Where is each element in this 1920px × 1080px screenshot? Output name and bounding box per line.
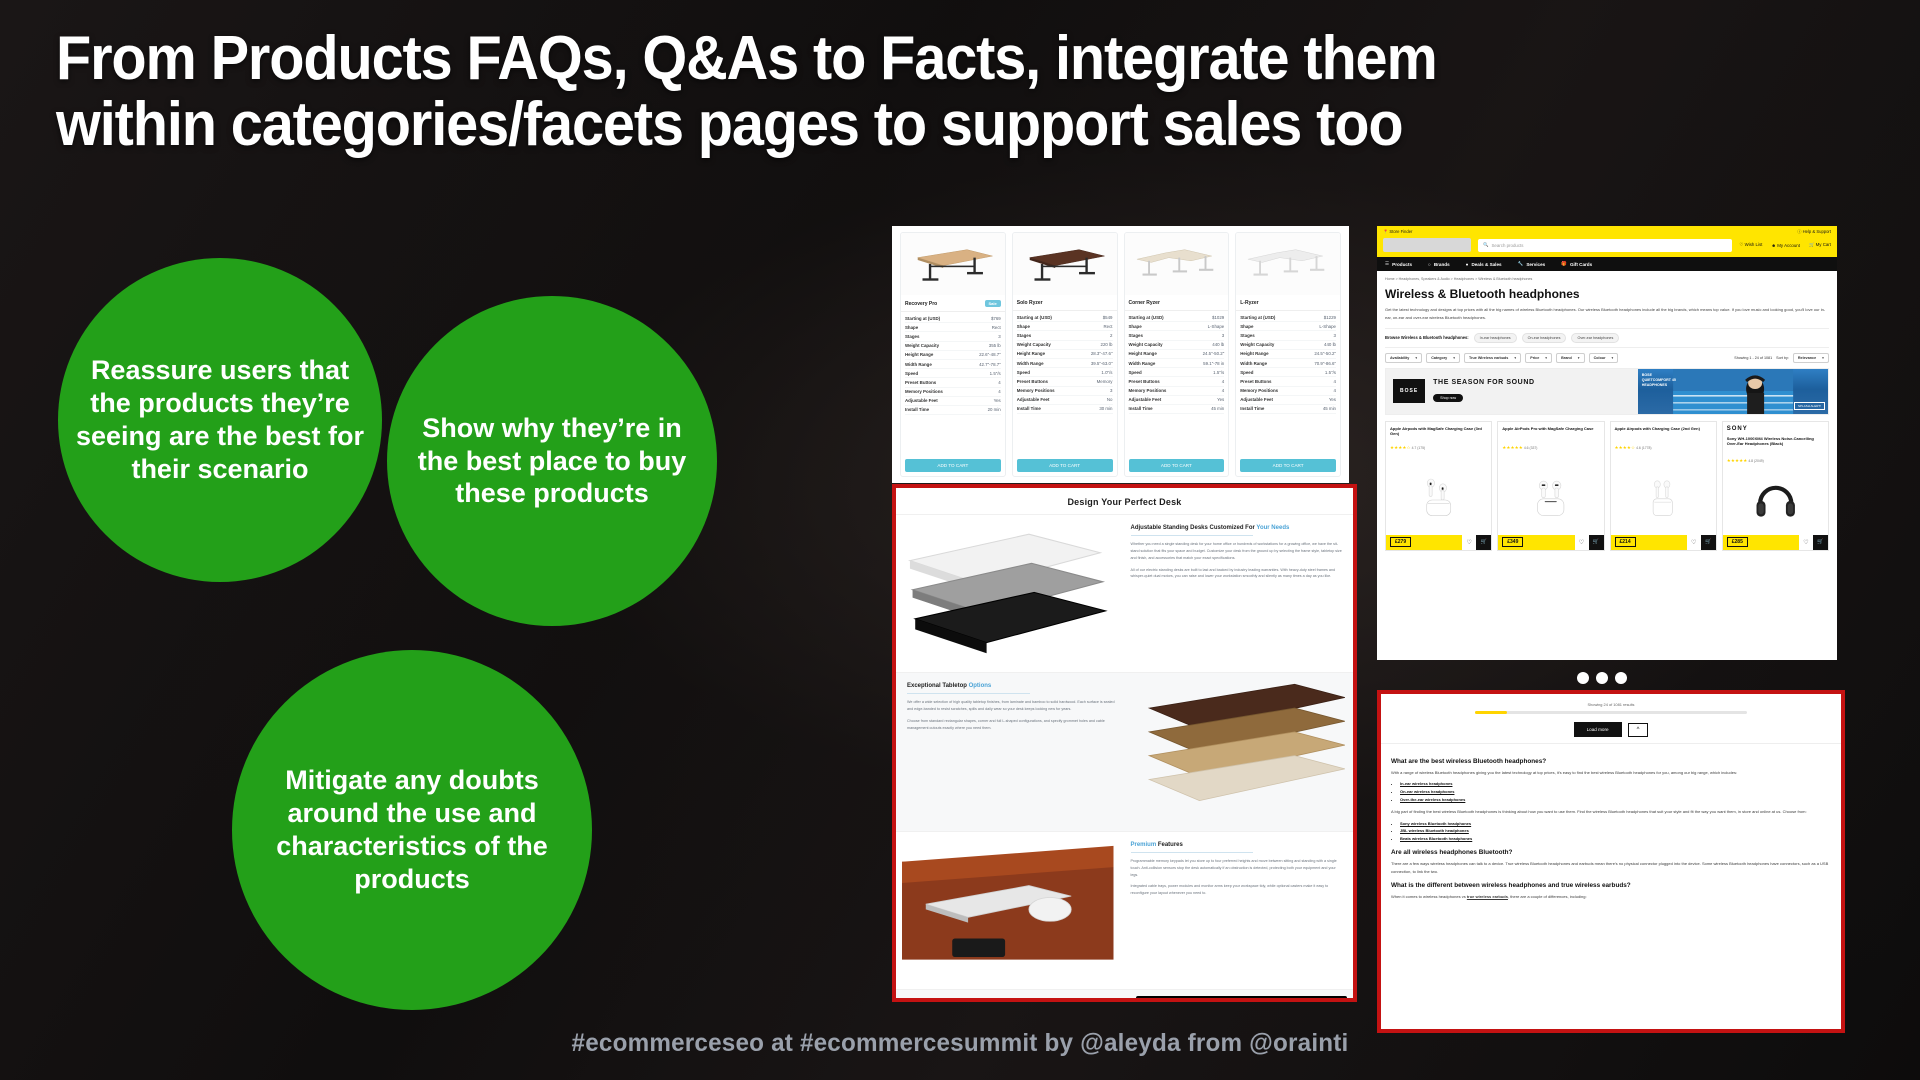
- airpods-3rd-gen-icon: [1402, 470, 1475, 518]
- spec-value: Memory: [1097, 379, 1113, 384]
- product-image: [1386, 454, 1491, 535]
- screenshot-category-page: 📍 Store Finder ⓘ Help & Support 🔍 Search…: [1377, 226, 1837, 660]
- spec-row: Weight Capacity440 lb: [1129, 341, 1225, 350]
- spec-label: Shape: [1129, 324, 1142, 329]
- spec-value: Rect: [1103, 324, 1112, 329]
- product-name-row: Corner Ryzer: [1125, 295, 1229, 311]
- faq-item: Are all wireless headphones Bluetooth? T…: [1391, 849, 1831, 875]
- product-rating: ★★★★★4.6 (337): [1498, 445, 1603, 454]
- product-rating: ★★★★☆4.7 (175): [1386, 445, 1491, 454]
- promo-text: THE SEASON FOR SOUND Shop now: [1433, 379, 1534, 404]
- spec-label: Width Range: [905, 362, 932, 367]
- browse-chip-in-ear[interactable]: In-ear headphones: [1474, 333, 1517, 343]
- sale-badge: [1328, 302, 1336, 304]
- add-to-cart-button[interactable]: ADD TO CART: [1017, 459, 1113, 472]
- price-value: £285: [1727, 537, 1748, 547]
- add-to-cart-button[interactable]: ADD TO CART: [905, 459, 1001, 472]
- add-to-cart-icon[interactable]: 🛒: [1589, 535, 1604, 550]
- spec-row: Preset ButtonsMemory: [1017, 377, 1113, 386]
- spec-label: Adjustable Feet: [905, 398, 938, 403]
- spec-row: Memory Positions4: [1240, 387, 1336, 396]
- spec-row: Height Range28.3"-47.6": [1017, 350, 1113, 359]
- product-name: Apple Airpods with MagSafe Charging Case…: [1386, 422, 1491, 445]
- spec-label: Weight Capacity: [1017, 342, 1051, 347]
- filter-colour[interactable]: Colour▾: [1589, 353, 1619, 363]
- spec-label: Speed: [1240, 370, 1253, 375]
- utility-bar: 📍 Store Finder ⓘ Help & Support: [1377, 226, 1837, 236]
- promo-banner-left: BOSE THE SEASON FOR SOUND Shop now: [1386, 369, 1638, 414]
- product-name: Corner Ryzer: [1129, 300, 1160, 306]
- heading-link: Premium: [1131, 842, 1158, 848]
- spec-value: 3: [998, 334, 1000, 339]
- product-grid: Apple Airpods with MagSafe Charging Case…: [1385, 421, 1829, 551]
- desk-section-text: Premium Features Programmable memory key…: [1120, 832, 1354, 989]
- spec-value: 20 min: [988, 407, 1001, 412]
- spec-label: Stages: [905, 334, 919, 339]
- spec-row: Stages2: [1017, 331, 1113, 340]
- product-price-row: £279 ♡ 🛒: [1386, 535, 1491, 550]
- scroll-top-button[interactable]: ^: [1628, 723, 1649, 737]
- spec-row: Weight Capacity440 lb: [1240, 341, 1336, 350]
- spec-value: 59.1"-78 in: [1203, 361, 1224, 366]
- filter-true-wireless[interactable]: True Wireless earbuds▾: [1464, 353, 1521, 363]
- spec-row: Install Time30 min: [1017, 405, 1113, 414]
- spec-row: Weight Capacity220 lb: [1017, 341, 1113, 350]
- faq-question: What is the different between wireless h…: [1391, 882, 1831, 889]
- video-player[interactable]: ▶ 0:08 / 1:24 🔊 ⚙ ⛶: [1136, 996, 1348, 1002]
- spec-label: Shape: [905, 325, 918, 330]
- filter-bar: Availability▾ Category▾ True Wireless ea…: [1385, 353, 1829, 363]
- spec-label: Install Time: [1240, 406, 1264, 411]
- product-rating: ★★★★☆4.6 (1778): [1611, 445, 1716, 454]
- category-body: Home > Headphones, Speakers & Audio > He…: [1377, 271, 1837, 557]
- faq-item: What is the different between wireless h…: [1391, 882, 1831, 900]
- spec-label: Width Range: [1129, 361, 1156, 366]
- spec-label: Weight Capacity: [1129, 342, 1163, 347]
- spec-value: Yes: [1329, 397, 1336, 402]
- spec-value: No: [1107, 397, 1113, 402]
- spec-value: L-Shape: [1319, 324, 1336, 329]
- site-header: 📍 Store Finder ⓘ Help & Support 🔍 Search…: [1377, 226, 1837, 257]
- my-account-label: My Account: [1777, 243, 1800, 248]
- category-heading: Wireless & Bluetooth headphones: [1385, 287, 1829, 301]
- spec-row: ShapeL-Shape: [1240, 322, 1336, 331]
- desk-paragraph: We offer a wide selection of high qualit…: [907, 699, 1119, 713]
- heading-dark: Exceptional Tabletop: [907, 683, 969, 689]
- product-name: Sony WH-1000XM4 Wireless Noise-Cancellin…: [1723, 432, 1828, 458]
- spec-value: 3: [1110, 388, 1112, 393]
- browse-row: Browse Wireless & Bluetooth headphones: …: [1385, 328, 1829, 348]
- spec-row: Adjustable FeetYes: [905, 397, 1001, 406]
- desk-paragraph: Whether you need a single standing desk …: [1131, 541, 1343, 562]
- spec-label: Height Range: [1240, 351, 1268, 356]
- product-rating: ★★★★★4.8 (2049): [1723, 458, 1828, 467]
- spec-row: Preset Buttons4: [1129, 377, 1225, 386]
- heading-underline: [907, 693, 1030, 694]
- spec-row: ShapeRect: [1017, 322, 1113, 331]
- product-name: Solo Ryzer: [1017, 300, 1043, 306]
- page-title: From Products FAQs, Q&As to Facts, integ…: [56, 26, 1739, 159]
- spec-label: Memory Positions: [1240, 388, 1278, 393]
- bose-logo: BOSE: [1393, 379, 1425, 403]
- breadcrumb[interactable]: Home > Headphones, Speakers & Audio > He…: [1385, 277, 1829, 281]
- faq-answer: There are a few ways wireless headphones…: [1391, 860, 1831, 875]
- product-name: Apple Airpods with Charging Case (2nd Ge…: [1611, 422, 1716, 445]
- sale-badge: [1105, 302, 1113, 304]
- nav-item-brands[interactable]: ○ Brands: [1428, 262, 1450, 267]
- spec-value: 1.5"/s: [1213, 370, 1224, 375]
- spec-label: Speed: [1129, 370, 1142, 375]
- filter-brand[interactable]: Brand▾: [1556, 353, 1585, 363]
- spec-row: Install Time45 min: [1129, 405, 1225, 414]
- spec-rows: Starting at (USD)$1229 ShapeL-Shape Stag…: [1236, 311, 1340, 455]
- spec-row: Width Range42.7"-78.7": [905, 360, 1001, 369]
- desk-section-heading: Adjustable Standing Desks Customized For…: [1131, 525, 1343, 531]
- spec-row: Speed1.5"/s: [1129, 368, 1225, 377]
- desk-section-heading: Quick & Easy Electric Standing Desk Asse…: [907, 1000, 1119, 1002]
- spec-row: ShapeL-Shape: [1129, 322, 1225, 331]
- faq-item: What are the best wireless Bluetooth hea…: [1391, 758, 1831, 842]
- add-to-cart-button[interactable]: ADD TO CART: [1129, 459, 1225, 472]
- desk-image: [1125, 233, 1229, 295]
- price-tag: £285: [1723, 535, 1799, 550]
- spec-value: 39.5"-63.0": [1091, 361, 1113, 366]
- spec-value: 1.5"/s: [990, 371, 1001, 376]
- spec-row: Height Range24.5"-50.2": [1129, 350, 1225, 359]
- heading-dark: Adjustable Standing Desks Customized For: [1131, 525, 1257, 531]
- promo-overlay-text: BOSE QUIETCOMFORT 45 HEADPHONES: [1642, 373, 1676, 389]
- product-name: L-Ryzer: [1240, 300, 1258, 306]
- spec-label: Adjustable Feet: [1017, 397, 1050, 402]
- faq-link[interactable]: Sony wireless Bluetooth headphones: [1400, 820, 1831, 828]
- product-price-row: £214 ♡ 🛒: [1611, 535, 1716, 550]
- spec-label: Height Range: [1129, 351, 1157, 356]
- add-to-cart-icon[interactable]: 🛒: [1701, 535, 1716, 550]
- desk-section-heading: Exceptional Tabletop Options: [907, 683, 1119, 689]
- heading-dark: Features: [1158, 842, 1183, 848]
- filter-price[interactable]: Price▾: [1525, 353, 1552, 363]
- airpods-pro-icon: [1514, 470, 1587, 518]
- product-card[interactable]: SONY Sony WH-1000XM4 Wireless Noise-Canc…: [1722, 421, 1829, 551]
- promo-overlay-line3: HEADPHONES: [1642, 383, 1676, 388]
- spec-row: Memory Positions4: [1129, 387, 1225, 396]
- wishlist-heart-icon[interactable]: ♡: [1462, 535, 1476, 550]
- spec-label: Preset Buttons: [1129, 379, 1160, 384]
- faq-question: What are the best wireless Bluetooth hea…: [1391, 758, 1831, 765]
- comparison-column: Corner Ryzer Starting at (USD)$1029 Shap…: [1124, 232, 1230, 477]
- pagination-area: Showing 24 of 1081 results Load more ^: [1381, 694, 1841, 744]
- spec-label: Width Range: [1240, 361, 1267, 366]
- faq-link[interactable]: Beats wireless Bluetooth headphones: [1400, 835, 1831, 843]
- spec-value: 4: [1334, 379, 1336, 384]
- spec-row: Install Time20 min: [905, 406, 1001, 415]
- price-tag: £349: [1498, 535, 1574, 550]
- spec-label: Preset Buttons: [1240, 379, 1271, 384]
- comparison-column: Solo Ryzer Starting at (USD)$549 ShapeRe…: [1012, 232, 1118, 477]
- sort-select[interactable]: Relevance▾: [1793, 353, 1829, 363]
- pagination-buttons: Load more ^: [1391, 722, 1831, 737]
- spec-row: Speed1.5"/s: [905, 369, 1001, 378]
- spec-value: 220 lb: [1101, 342, 1113, 347]
- spec-value: 4: [1222, 388, 1224, 393]
- filter-category[interactable]: Category▾: [1426, 353, 1460, 363]
- slide-footer: #ecommerceseo at #ecommercesummit by @al…: [29, 1029, 1891, 1058]
- store-finder-link[interactable]: 📍 Store Finder: [1383, 229, 1412, 235]
- heading-link: Your Needs: [1256, 525, 1289, 531]
- spec-row: Stages3: [905, 332, 1001, 341]
- spec-value: 355 lb: [989, 343, 1001, 348]
- keyboard-mouse-desk-icon: [902, 838, 1114, 983]
- desk-section-customized: Adjustable Standing Desks Customized For…: [896, 514, 1353, 672]
- product-name: Recovery Pro: [905, 301, 937, 307]
- faq-answer: When it comes to wireless headphones vs …: [1391, 893, 1831, 900]
- my-account-link[interactable]: ☻ My Account: [1771, 243, 1800, 248]
- spec-row: Starting at (USD)$1229: [1240, 313, 1336, 322]
- spec-value: Yes: [994, 398, 1001, 403]
- spec-row: Adjustable FeetNo: [1017, 396, 1113, 405]
- heading-link: Options: [969, 683, 992, 689]
- price-tag: £279: [1386, 535, 1462, 550]
- store-finder-label: Store Finder: [1389, 229, 1412, 234]
- spec-row: Weight Capacity355 lb: [905, 342, 1001, 351]
- spec-value: Yes: [1217, 397, 1224, 402]
- rating-value: 4.6 (1778): [1636, 446, 1651, 450]
- desk-image: [901, 233, 1005, 295]
- spec-value: $549: [1103, 315, 1113, 320]
- spec-value: 45 min: [1211, 406, 1224, 411]
- spec-label: Starting at (USD): [1017, 315, 1052, 320]
- desk-paragraph: Integrated cable trays, power modules an…: [1131, 883, 1343, 897]
- wishlist-heart-icon[interactable]: ♡: [1687, 535, 1701, 550]
- product-name-row: L-Ryzer: [1236, 295, 1340, 311]
- wish-list-link[interactable]: ♡ Wish List: [1739, 242, 1762, 248]
- browse-chip-over-ear[interactable]: Over-ear headphones: [1571, 333, 1619, 343]
- dot: [1577, 672, 1589, 684]
- spec-row: Width Range59.1"-78 in: [1129, 359, 1225, 368]
- spec-row: Stages3: [1240, 331, 1336, 340]
- spec-label: Shape: [1240, 324, 1253, 329]
- spec-label: Shape: [1017, 324, 1030, 329]
- brand-logo-sony: SONY: [1723, 422, 1828, 432]
- product-card[interactable]: Apple AirPods Pro with MagSafe Charging …: [1497, 421, 1604, 551]
- load-more-button[interactable]: Load more: [1574, 722, 1622, 737]
- heading-underline: [1131, 535, 1254, 536]
- faq-link[interactable]: In-ear wireless headphones: [1400, 780, 1831, 788]
- spec-label: Install Time: [1017, 406, 1041, 411]
- wishlist-heart-icon[interactable]: ♡: [1799, 535, 1813, 550]
- spec-row: Starting at (USD)$1029: [1129, 313, 1225, 322]
- spec-row: Memory Positions3: [1017, 387, 1113, 396]
- title-line-1: From Products FAQs, Q&As to Facts, integ…: [56, 24, 1437, 93]
- result-count: Showing 1 - 24 of 1081: [1734, 356, 1772, 360]
- heading-dark: Electric Standing Desk Assembly: [947, 1000, 1042, 1002]
- nav-item-deals[interactable]: ● Deals & Sales: [1466, 262, 1502, 267]
- promo-headline: THE SEASON FOR SOUND: [1433, 379, 1534, 386]
- desk-section-text: Adjustable Standing Desks Customized For…: [1120, 515, 1354, 672]
- spec-label: Weight Capacity: [1240, 342, 1274, 347]
- spec-row: ShapeRect: [905, 323, 1001, 332]
- add-to-cart-icon[interactable]: 🛒: [1813, 535, 1828, 550]
- spec-value: 4: [998, 380, 1000, 385]
- nav-item-services[interactable]: 🔧 Services: [1518, 261, 1546, 267]
- spec-row: Memory Positions4: [905, 388, 1001, 397]
- help-support-link[interactable]: ⓘ Help & Support: [1797, 229, 1831, 235]
- spec-value: 1.0"/s: [1101, 370, 1112, 375]
- spec-label: Height Range: [905, 352, 933, 357]
- wish-list-label: Wish List: [1745, 242, 1763, 247]
- promo-banner[interactable]: BOSE THE SEASON FOR SOUND Shop now: [1385, 368, 1829, 415]
- faq-link[interactable]: JBL wireless Bluetooth headphones: [1400, 827, 1831, 835]
- desk-section-assembly: Quick & Easy Electric Standing Desk Asse…: [896, 989, 1353, 1002]
- desk-tops-stack-image: [896, 515, 1120, 672]
- spec-label: Width Range: [1017, 361, 1044, 366]
- site-logo[interactable]: [1383, 238, 1471, 252]
- price-value: £214: [1615, 537, 1636, 547]
- faq-question: Are all wireless headphones Bluetooth?: [1391, 849, 1831, 856]
- add-to-cart-icon[interactable]: 🛒: [1476, 535, 1491, 550]
- desk-paragraph: Programmable memory keypads let you stor…: [1131, 858, 1343, 879]
- title-line-2: within categories/facets pages to suppor…: [56, 92, 1739, 158]
- nav-item-products[interactable]: ☰ Products: [1385, 261, 1412, 267]
- spec-value: 3: [1334, 333, 1336, 338]
- spec-value: $1029: [1212, 315, 1224, 320]
- product-price-row: £285 ♡ 🛒: [1723, 535, 1828, 550]
- desk-image: [1236, 233, 1340, 295]
- screenshot-desk-comparison: Recovery Pro Sale Starting at (USD)$769 …: [892, 226, 1349, 483]
- dot: [1615, 672, 1627, 684]
- faq-link[interactable]: Over-the-ear wireless headphones: [1400, 796, 1831, 804]
- sort-label: Sort by:: [1776, 356, 1789, 360]
- spec-label: Install Time: [905, 407, 929, 412]
- search-input[interactable]: 🔍 Search products: [1478, 239, 1732, 252]
- spec-row: Starting at (USD)$769: [905, 314, 1001, 323]
- desk-section-heading: Premium Features: [1131, 842, 1343, 848]
- spec-value: $769: [991, 316, 1001, 321]
- spec-value: 4: [1334, 388, 1336, 393]
- spec-row: Adjustable FeetYes: [1129, 396, 1225, 405]
- spec-label: Adjustable Feet: [1240, 397, 1273, 402]
- price-tag: £214: [1611, 535, 1687, 550]
- rating-value: 4.6 (337): [1524, 446, 1538, 450]
- comparison-grid: Recovery Pro Sale Starting at (USD)$769 …: [892, 226, 1349, 483]
- product-name: Apple AirPods Pro with MagSafe Charging …: [1498, 422, 1603, 445]
- account-actions: ♡ Wish List ☻ My Account 🛒 My Cart: [1739, 242, 1831, 248]
- main-nav: ☰ Products ○ Brands ● Deals & Sales 🔧 Se…: [1377, 257, 1837, 271]
- sale-badge: [1216, 302, 1224, 304]
- spec-row: Height Range22.6"-48.7": [905, 351, 1001, 360]
- spec-value: 24.5"-50.2": [1203, 351, 1225, 356]
- spec-row: Starting at (USD)$549: [1017, 313, 1113, 322]
- desk-l-shape-light-icon: [1129, 236, 1224, 292]
- browse-chip-on-ear[interactable]: On-ear headphones: [1522, 333, 1567, 343]
- product-card[interactable]: Apple Airpods with Charging Case (2nd Ge…: [1610, 421, 1717, 551]
- spec-value: 42.7"-78.7": [979, 362, 1001, 367]
- spec-row: Adjustable FeetYes: [1240, 396, 1336, 405]
- spec-value: 440 lb: [1212, 342, 1224, 347]
- assembly-video[interactable]: ▶ 0:08 / 1:24 🔊 ⚙ ⛶: [1130, 990, 1354, 1002]
- answer-post: , there are a couple of differences, inc…: [1508, 894, 1587, 899]
- spec-label: Height Range: [1017, 351, 1045, 356]
- answer-inline-link[interactable]: true wireless earbuds: [1467, 894, 1508, 899]
- spec-label: Adjustable Feet: [1129, 397, 1162, 402]
- product-card[interactable]: Apple Airpods with MagSafe Charging Case…: [1385, 421, 1492, 551]
- filter-availability[interactable]: Availability▾: [1385, 353, 1422, 363]
- result-count: Showing 24 of 1081 results: [1391, 702, 1831, 707]
- spec-value: 440 lb: [1324, 342, 1336, 347]
- nav-item-gift-cards[interactable]: 🎁 Gift Cards: [1561, 261, 1592, 267]
- wishlist-heart-icon[interactable]: ♡: [1575, 535, 1589, 550]
- spec-value: 1.5"/s: [1325, 370, 1336, 375]
- product-name-row: Recovery Pro Sale: [901, 295, 1005, 312]
- my-cart-label: My Cart: [1816, 242, 1831, 247]
- airpods-2nd-gen-icon: [1626, 470, 1699, 518]
- spec-row: Speed1.5"/s: [1240, 368, 1336, 377]
- desk-section-text: Quick & Easy Electric Standing Desk Asse…: [896, 990, 1130, 1002]
- faq-link[interactable]: On-ear wireless headphones: [1400, 788, 1831, 796]
- spec-row: Width Range39.5"-63.0": [1017, 359, 1113, 368]
- faq-answer: With a range of wireless Bluetooth headp…: [1391, 769, 1831, 776]
- spec-label: Install Time: [1129, 406, 1153, 411]
- desk-paragraph: Choose from standard rectangular shapes,…: [907, 718, 1119, 732]
- spec-label: Memory Positions: [905, 389, 943, 394]
- search-icon: 🔍: [1483, 242, 1488, 248]
- spec-row: Preset Buttons4: [905, 378, 1001, 387]
- search-bar: 🔍 Search products ♡ Wish List ☻ My Accou…: [1377, 236, 1837, 257]
- desk-section-tabletop: Exceptional Tabletop Options We offer a …: [896, 672, 1353, 830]
- add-to-cart-button[interactable]: ADD TO CART: [1240, 459, 1336, 472]
- faq-link-list: Sony wireless Bluetooth headphones JBL w…: [1400, 820, 1831, 843]
- spec-value: 2: [1110, 333, 1112, 338]
- product-name-row: Solo Ryzer: [1013, 295, 1117, 311]
- video-thumbnail-icon: [1136, 996, 1348, 1002]
- progress-track: [1475, 711, 1748, 714]
- callout-circle-mitigate-text: Mitigate any doubts around the use and c…: [232, 764, 592, 896]
- spec-value: $1229: [1324, 315, 1336, 320]
- product-image: [1498, 454, 1603, 535]
- spec-value: 24.5"-50.2": [1314, 351, 1336, 356]
- ellipsis-separator: [1577, 672, 1637, 684]
- spec-value: 22.6"-48.7": [979, 352, 1001, 357]
- tabletop-finishes-icon: [1136, 679, 1348, 824]
- faq-list: What are the best wireless Bluetooth hea…: [1381, 744, 1841, 912]
- promo-banner-image: BOSE QUIETCOMFORT 45 HEADPHONES SPLASH A…: [1638, 369, 1828, 414]
- spec-rows: Starting at (USD)$549 ShapeRect Stages2 …: [1013, 311, 1117, 455]
- screenshot-faq-section: Showing 24 of 1081 results Load more ^ W…: [1377, 690, 1845, 1033]
- spec-value: 4: [998, 389, 1000, 394]
- spec-label: Speed: [1017, 370, 1030, 375]
- spec-label: Stages: [1017, 333, 1031, 338]
- price-value: £349: [1502, 537, 1523, 547]
- spec-label: Stages: [1129, 333, 1143, 338]
- faq-link-list: In-ear wireless headphones On-ear wirele…: [1400, 780, 1831, 803]
- desk-rectangular-walnut-icon: [1017, 236, 1112, 292]
- spec-label: Weight Capacity: [905, 343, 939, 348]
- rating-value: 4.7 (175): [1412, 446, 1426, 450]
- callout-circle-reassure: Reassure users that the products they’re…: [58, 258, 382, 582]
- product-price-row: £349 ♡ 🛒: [1498, 535, 1603, 550]
- spec-row: Install Time45 min: [1240, 405, 1336, 414]
- promo-cta-button[interactable]: Shop now: [1433, 394, 1463, 402]
- spec-value: 30 min: [1099, 406, 1112, 411]
- desk-section-premium: Premium Features Programmable memory key…: [896, 831, 1353, 989]
- desk-l-shape-white-icon: [1240, 236, 1335, 292]
- my-cart-link[interactable]: 🛒 My Cart: [1809, 242, 1831, 248]
- spec-value: L-Shape: [1208, 324, 1225, 329]
- product-image: [1611, 454, 1716, 535]
- spec-rows: Starting at (USD)$769 ShapeRect Stages3 …: [901, 312, 1005, 455]
- spec-value: 3: [1222, 333, 1224, 338]
- browse-label: Browse Wireless & Bluetooth headphones:: [1385, 335, 1469, 340]
